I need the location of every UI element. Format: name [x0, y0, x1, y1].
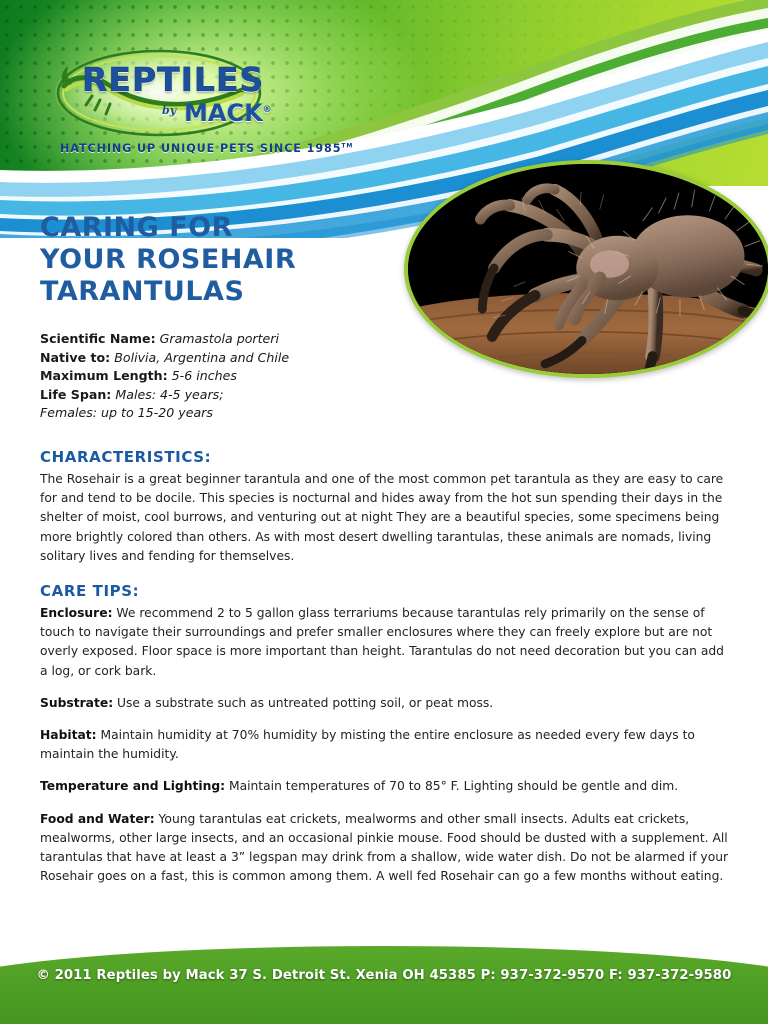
fact-label: Native to:: [40, 350, 110, 365]
fact-row: Native to: Bolivia, Argentina and Chile: [40, 349, 380, 368]
page-footer: © 2011 Reptiles by Mack 37 S. Detroit St…: [0, 946, 768, 1024]
care-tip-habitat: Habitat: Maintain humidity at 70% humidi…: [40, 726, 730, 764]
fact-label: Life Span:: [40, 387, 111, 402]
page-title-line-1: Caring for: [40, 212, 390, 244]
care-tip-substrate: Substrate: Use a substrate such as untre…: [40, 694, 730, 713]
fact-row: Scientific Name: Gramastola porteri: [40, 330, 380, 349]
fact-value: Gramastola porteri: [160, 331, 279, 346]
logo-by-text: by: [162, 104, 176, 117]
footer-copyright: © 2011 Reptiles by Mack 37 S. Detroit St…: [0, 968, 768, 983]
brand-logo[interactable]: REPTILES by MACK® HATCHING UP UNIQUE PET…: [52, 46, 280, 166]
care-tip-text: Maintain temperatures of 70 to 85° F. Li…: [225, 779, 678, 793]
care-tip-text: Use a substrate such as untreated pottin…: [113, 696, 493, 710]
fact-label: Scientific Name:: [40, 331, 156, 346]
fact-row: Females: up to 15-20 years: [40, 404, 380, 423]
fact-value: Bolivia, Argentina and Chile: [114, 350, 289, 365]
characteristics-section: Characteristics: The Rosehair is a great…: [40, 448, 730, 566]
logo-wordmark-mack: MACK®: [184, 99, 272, 127]
care-tip-enclosure: Enclosure: We recommend 2 to 5 gallon gl…: [40, 604, 730, 681]
care-tip-label: Temperature and Lighting:: [40, 779, 225, 793]
tarantula-illustration: [408, 164, 768, 374]
species-facts-list: Scientific Name: Gramastola porteri Nati…: [40, 330, 380, 423]
characteristics-heading: Characteristics:: [40, 448, 730, 466]
fact-row: Maximum Length: 5-6 inches: [40, 367, 380, 386]
page-title-line-3: Tarantulas: [40, 276, 390, 308]
page-title: Caring for Your Rosehair Tarantulas: [40, 212, 390, 308]
brand-tagline: HATCHING UP UNIQUE PETS SINCE 1985TM: [60, 142, 353, 155]
care-tips-section: Care Tips: Enclosure: We recommend 2 to …: [40, 582, 730, 886]
care-tip-label: Enclosure:: [40, 606, 113, 620]
care-tip-text: We recommend 2 to 5 gallon glass terrari…: [40, 606, 724, 678]
fact-value: 5-6 inches: [172, 368, 237, 383]
care-tip-label: Habitat:: [40, 728, 97, 742]
fact-row: Life Span: Males: 4-5 years;: [40, 386, 380, 405]
fact-value: Males: 4-5 years;: [115, 387, 223, 402]
page-title-line-2: Your Rosehair: [40, 244, 390, 276]
trademark-mark: TM: [341, 142, 353, 149]
care-tip-temperature-lighting: Temperature and Lighting: Maintain tempe…: [40, 777, 730, 796]
footer-green-banner: [0, 946, 768, 1024]
registered-mark: ®: [263, 105, 272, 115]
fact-label: Maximum Length:: [40, 368, 168, 383]
tarantula-photo: [404, 160, 768, 378]
care-tips-heading: Care Tips:: [40, 582, 730, 600]
care-tip-label: Substrate:: [40, 696, 113, 710]
care-tip-text: Maintain humidity at 70% humidity by mis…: [40, 728, 695, 761]
characteristics-text: The Rosehair is a great beginner tarantu…: [40, 470, 730, 566]
fact-value: Females: up to 15-20 years: [40, 405, 213, 420]
logo-wordmark-reptiles: REPTILES: [82, 60, 264, 99]
care-tip-food-water: Food and Water: Young tarantulas eat cri…: [40, 810, 730, 887]
care-tip-label: Food and Water:: [40, 812, 155, 826]
